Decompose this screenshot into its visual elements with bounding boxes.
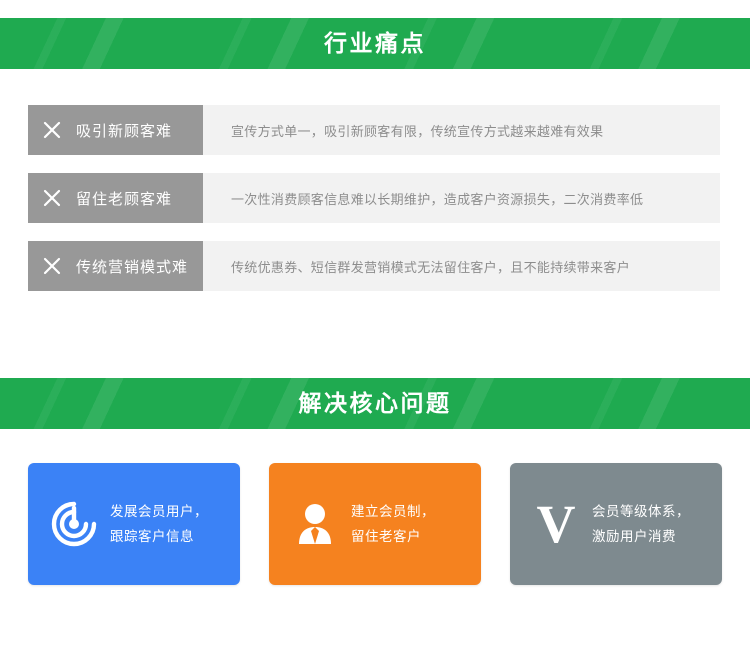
solution-card-line1: 会员等级体系，: [592, 504, 690, 519]
person-tie-icon: [285, 498, 345, 550]
pain-point-label: 吸引新顾客难: [76, 120, 172, 141]
solution-card-membership-system[interactable]: 建立会员制， 留住老客户: [269, 463, 481, 585]
section-banner-pain-points: 行业痛点: [0, 18, 750, 69]
pain-point-list: 吸引新顾客难 宣传方式单一，吸引新顾客有限，传统宣传方式越来越难有效果 留住老顾…: [0, 105, 750, 309]
solution-card-line1: 发展会员用户，: [110, 504, 208, 519]
solution-card-text: 建立会员制， 留住老客户: [345, 499, 435, 549]
solution-card-line2: 留住老客户: [351, 524, 435, 549]
close-x-icon: [28, 256, 76, 276]
pain-point-description: 宣传方式单一，吸引新顾客有限，传统宣传方式越来越难有效果: [203, 105, 720, 155]
letter-v-glyph: V: [537, 497, 576, 551]
solution-card-text: 会员等级体系， 激励用户消费: [586, 499, 690, 549]
pain-point-row: 吸引新顾客难 宣传方式单一，吸引新顾客有限，传统宣传方式越来越难有效果: [28, 105, 720, 155]
target-radar-icon: [44, 498, 104, 550]
pain-point-badge: 传统营销模式难: [28, 241, 203, 291]
solution-card-line2: 激励用户消费: [592, 524, 690, 549]
solution-card-member-tiers[interactable]: V 会员等级体系， 激励用户消费: [510, 463, 722, 585]
pain-point-badge: 留住老顾客难: [28, 173, 203, 223]
banner-title-solutions: 解决核心问题: [299, 392, 452, 415]
pain-point-description: 一次性消费顾客信息难以长期维护，造成客户资源损失，二次消费率低: [203, 173, 720, 223]
solution-card-member-development[interactable]: 发展会员用户， 跟踪客户信息: [28, 463, 240, 585]
solution-card-list: 发展会员用户， 跟踪客户信息 建立会员制， 留住老客户 V 会员等级体系， 激励…: [28, 463, 722, 585]
pain-point-row: 留住老顾客难 一次性消费顾客信息难以长期维护，造成客户资源损失，二次消费率低: [28, 173, 720, 223]
pain-point-badge: 吸引新顾客难: [28, 105, 203, 155]
pain-point-label: 传统营销模式难: [76, 256, 188, 277]
banner-title-pain-points: 行业痛点: [324, 32, 426, 55]
solution-card-line2: 跟踪客户信息: [110, 524, 208, 549]
letter-v-icon: V: [526, 497, 586, 551]
solution-card-text: 发展会员用户， 跟踪客户信息: [104, 499, 208, 549]
solution-card-line1: 建立会员制，: [351, 504, 435, 519]
close-x-icon: [28, 188, 76, 208]
pain-point-description: 传统优惠券、短信群发营销模式无法留住客户，且不能持续带来客户: [203, 241, 720, 291]
pain-point-label: 留住老顾客难: [76, 188, 172, 209]
close-x-icon: [28, 120, 76, 140]
pain-point-row: 传统营销模式难 传统优惠券、短信群发营销模式无法留住客户，且不能持续带来客户: [28, 241, 720, 291]
section-banner-solutions: 解决核心问题: [0, 378, 750, 429]
